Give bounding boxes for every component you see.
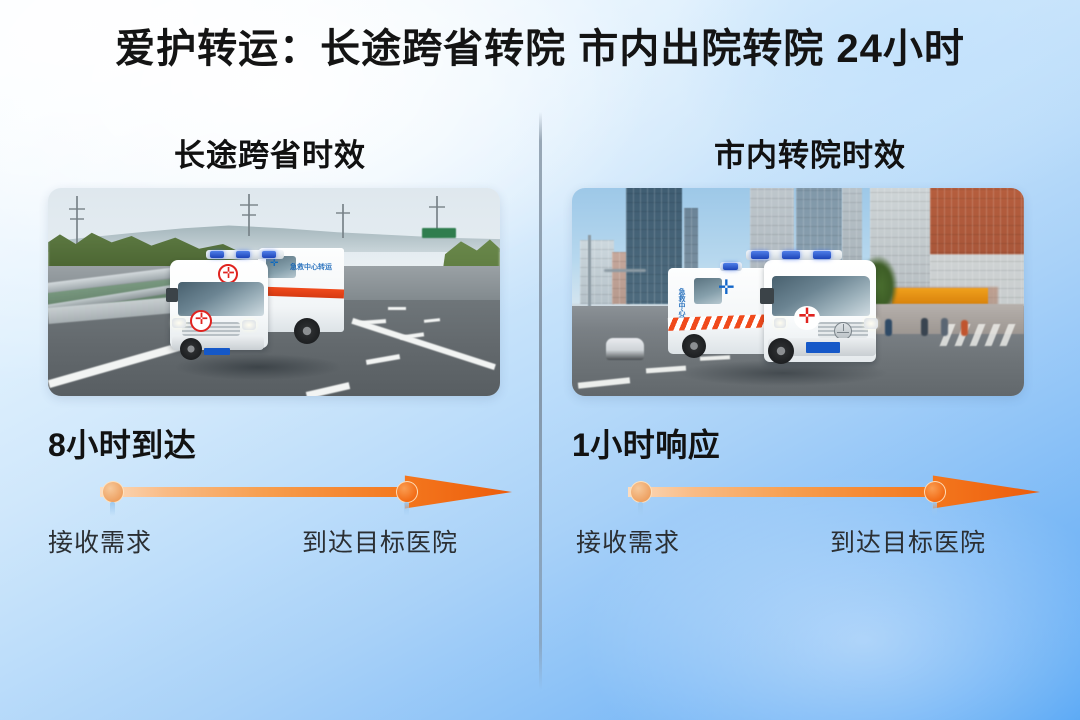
headlight-left: [774, 318, 786, 328]
shop-awning: [892, 288, 988, 304]
timeline-start-tick: [638, 502, 643, 516]
city-street-ambulance-photo: 急救中心转运 ✛ ✛: [572, 188, 1024, 396]
timeline-end-label: 到达目标医院: [830, 523, 986, 559]
rear-wheel: [294, 318, 320, 344]
medical-cross-icon: ✛: [270, 259, 278, 269]
rear-wheel: [682, 334, 706, 358]
corner-beacon: [720, 262, 742, 271]
pedestrian: [921, 318, 928, 336]
timeline-start-tick: [110, 502, 115, 516]
panel-heading-long-distance: 长途跨省时效: [0, 130, 540, 175]
timeline-end-label: 到达目标医院: [302, 523, 458, 559]
emergency-lightbar: [206, 250, 284, 259]
red-cross-icon: ✛: [193, 312, 210, 328]
side-mirror: [166, 288, 178, 302]
timeline-arrow: [100, 474, 512, 510]
ambulance-hospital-text: 急救中心转运: [290, 262, 332, 272]
ambulance-vehicle: 急救中心转运 ✛ ✛: [668, 222, 898, 386]
headlight-right: [864, 318, 878, 329]
highway-sign: [422, 228, 456, 238]
crosswalk-markings: [940, 324, 1019, 346]
license-plate: [204, 348, 230, 355]
side-mirror: [760, 288, 774, 304]
headlight-right: [242, 320, 256, 330]
windshield: [178, 282, 264, 316]
vehicle-shadow: [174, 354, 342, 380]
windshield: [772, 276, 870, 316]
building: [580, 240, 614, 304]
pedestrian: [961, 320, 968, 336]
stat-in-city: 1小时响应: [572, 420, 720, 466]
timeline-arrow: [628, 474, 1040, 510]
timeline-end-dot: [396, 481, 418, 503]
vehicle-shadow: [678, 360, 888, 386]
timeline-in-city: [628, 472, 1040, 516]
timeline-end-tick: [932, 502, 937, 516]
emergency-lightbar: [746, 250, 842, 260]
license-plate: [806, 342, 840, 353]
panel-heading-in-city: 市内转院时效: [540, 130, 1080, 175]
red-cross-icon: ✛: [221, 266, 236, 281]
page-title: 爱护转运：长途跨省转院 市内出院转院 24小时: [0, 24, 1080, 74]
lane-marking: [388, 307, 406, 310]
passing-car: [606, 338, 644, 360]
timeline-start-label: 接收需求: [576, 523, 680, 559]
panel-in-city: 市内转院时效: [540, 0, 1080, 720]
stat-long-distance: 8小时到达: [48, 420, 196, 466]
highway-ambulance-photo: ✛ 急救中心转运 ✛ ✛: [48, 188, 500, 396]
vertical-divider: [539, 112, 542, 690]
power-pylon-icon: [76, 196, 78, 244]
front-wheel: [768, 338, 794, 364]
red-cross-icon: ✛: [796, 306, 818, 327]
panel-long-distance: 长途跨省时效: [0, 0, 540, 720]
timeline-end-tick: [404, 502, 409, 516]
timeline-long-distance: [100, 472, 512, 516]
headlight-left: [172, 318, 186, 328]
front-wheel: [180, 338, 202, 360]
pedestrian: [941, 318, 948, 336]
timeline-start-dot: [102, 481, 124, 503]
timeline-start-label: 接收需求: [48, 523, 152, 559]
ambulance-vehicle: ✛ 急救中心转运 ✛ ✛: [166, 226, 346, 378]
timeline-end-dot: [924, 481, 946, 503]
timeline-start-dot: [630, 481, 652, 503]
blue-cross-icon: ✛: [718, 278, 735, 298]
poster-canvas: 爱护转运：长途跨省转院 市内出院转院 24小时 长途跨省时效: [0, 0, 1080, 720]
